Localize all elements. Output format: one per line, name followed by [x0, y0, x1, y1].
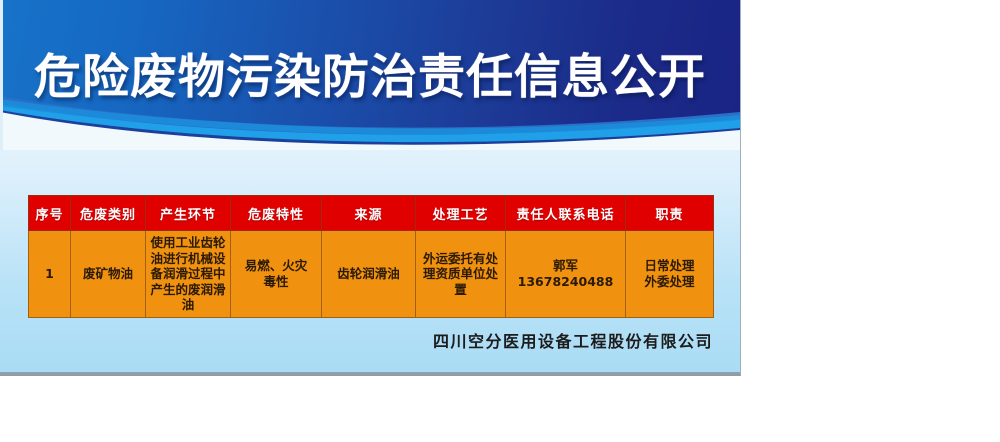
page-title: 危险废物污染防治责任信息公开	[0, 46, 740, 110]
header-hazard-property: 危废特性	[231, 196, 322, 231]
table-row: 1 废矿物油 使用工业齿轮油进行机械设备润滑过程中产生的废润滑油 易燃、火灾 毒…	[29, 231, 714, 318]
information-disclosure-poster: 危险废物污染防治责任信息公开 序号 危废类别 产生环节 危废特性	[0, 0, 741, 376]
hazardous-waste-table: 序号 危废类别 产生环节 危废特性 来源 处理工艺 责任人联系电话 职责 1 废…	[28, 195, 714, 318]
responsible-person-phone: 13678240488	[509, 274, 622, 290]
header-index: 序号	[29, 196, 71, 231]
header-responsible-person-phone: 责任人联系电话	[506, 196, 626, 231]
table-header-row: 序号 危废类别 产生环节 危废特性 来源 处理工艺 责任人联系电话 职责	[29, 196, 714, 231]
cell-waste-category: 废矿物油	[71, 231, 146, 318]
header-source: 来源	[322, 196, 416, 231]
cell-hazard-property: 易燃、火灾 毒性	[231, 231, 322, 318]
header-generation-stage: 产生环节	[146, 196, 231, 231]
banner-left-edge-strip	[0, 0, 3, 150]
header-treatment-process: 处理工艺	[416, 196, 506, 231]
cell-duty: 日常处理 外委处理	[626, 231, 714, 318]
cell-index: 1	[29, 231, 71, 318]
cell-generation-stage: 使用工业齿轮油进行机械设备润滑过程中产生的废润滑油	[146, 231, 231, 318]
duty-line-2: 外委处理	[629, 274, 710, 290]
responsible-person-name: 郭军	[509, 258, 622, 274]
company-name: 四川空分医用设备工程股份有限公司	[0, 328, 713, 352]
cell-treatment-process: 外运委托有处理资质单位处置	[416, 231, 506, 318]
header-duty: 职责	[626, 196, 714, 231]
hazard-property-line-2: 毒性	[234, 274, 318, 290]
screenshot-canvas: 危险废物污染防治责任信息公开 序号 危废类别 产生环节 危废特性	[0, 0, 1000, 442]
duty-line-1: 日常处理	[629, 258, 710, 274]
cell-responsible-person: 郭军 13678240488	[506, 231, 626, 318]
poster-banner: 危险废物污染防治责任信息公开	[0, 0, 740, 150]
hazard-property-line-1: 易燃、火灾	[234, 258, 318, 274]
cell-source: 齿轮润滑油	[322, 231, 416, 318]
header-waste-category: 危废类别	[71, 196, 146, 231]
